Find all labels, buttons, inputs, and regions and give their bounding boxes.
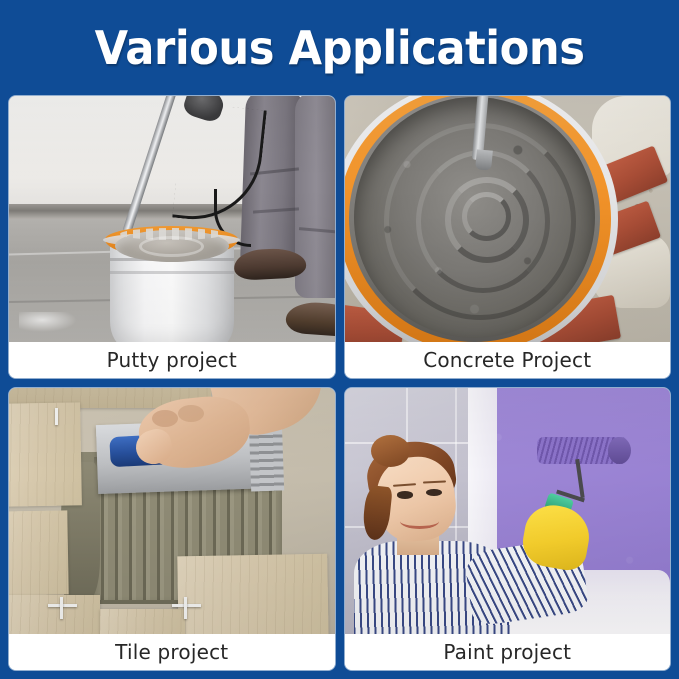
card-label-tile: Tile project	[9, 634, 335, 670]
paint-project-photo	[345, 388, 671, 634]
concrete-scene	[345, 96, 671, 342]
poster-header: Various Applications	[0, 0, 679, 96]
tile-project-photo	[9, 388, 335, 634]
card-label-concrete: Concrete Project	[345, 342, 671, 378]
putty-project-photo	[9, 96, 335, 342]
tile-spacer	[55, 408, 58, 425]
eye	[397, 491, 413, 498]
applications-poster: Various Applications	[0, 0, 679, 679]
hair-bun	[371, 435, 410, 467]
page-title: Various Applications	[95, 25, 585, 71]
application-card-concrete[interactable]: Concrete Project	[345, 96, 671, 378]
floor-tile	[177, 554, 328, 634]
application-card-putty[interactable]: Putty project	[9, 96, 335, 378]
floor-tile	[9, 402, 82, 507]
concrete-project-photo	[345, 96, 671, 342]
applications-grid: Putty project	[9, 96, 670, 679]
card-label-paint: Paint project	[345, 634, 671, 670]
tile-spacer	[184, 597, 187, 619]
application-card-paint[interactable]: Paint project	[345, 388, 671, 670]
tile-spacer	[60, 597, 63, 619]
putty-swirl	[139, 236, 204, 257]
smile	[400, 513, 439, 528]
bucket-ring	[110, 271, 234, 274]
tile-scene	[9, 388, 335, 634]
floor-highlight	[19, 312, 78, 332]
floor-tile	[9, 595, 100, 634]
card-label-putty: Putty project	[9, 342, 335, 378]
floor-tile	[100, 609, 185, 634]
paint-roller-end-cap	[608, 437, 631, 464]
putty-scene	[9, 96, 335, 342]
mixer-shaft-tip	[475, 149, 493, 170]
floor-tile	[9, 510, 68, 595]
application-card-tile[interactable]: Tile project	[9, 388, 335, 670]
paint-scene	[345, 388, 671, 634]
